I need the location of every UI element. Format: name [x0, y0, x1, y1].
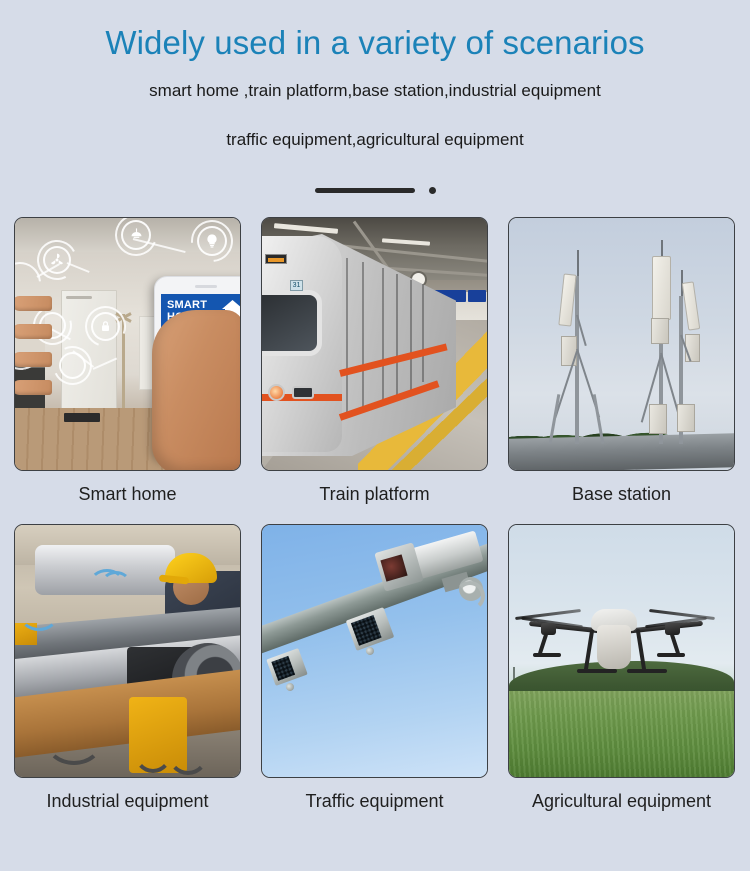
hand: [152, 310, 241, 471]
card-train-platform[interactable]: 31 Train platform: [261, 217, 488, 506]
thumbnail-industrial-equipment[interactable]: [14, 524, 241, 778]
train-platform-scene: 31: [262, 218, 487, 470]
smart-home-scene: SMART HOME: [15, 218, 240, 470]
traffic-equipment-scene: [262, 525, 487, 777]
card-caption: Traffic equipment: [261, 789, 488, 813]
card-base-station[interactable]: Base station: [508, 217, 735, 506]
scenario-card-grid: SMART HOME: [0, 217, 750, 813]
thumbnail-smart-home[interactable]: SMART HOME: [14, 217, 241, 471]
card-caption: Base station: [508, 482, 735, 506]
industrial-equipment-scene: [15, 525, 240, 777]
card-industrial-equipment[interactable]: Industrial equipment: [14, 524, 241, 813]
thumbnail-base-station[interactable]: [508, 217, 735, 471]
card-smart-home[interactable]: SMART HOME: [14, 217, 241, 506]
card-caption: Smart home: [14, 482, 241, 506]
card-caption: Industrial equipment: [14, 789, 241, 813]
carousel-indicators[interactable]: [0, 185, 750, 195]
spray-tank: [597, 625, 631, 669]
carousel-dot-2[interactable]: [429, 187, 436, 194]
card-caption: Agricultural equipment: [508, 789, 735, 813]
card-agricultural-equipment[interactable]: Agricultural equipment: [508, 524, 735, 813]
thumbnail-agricultural-equipment[interactable]: [508, 524, 735, 778]
thumbnail-train-platform[interactable]: 31: [261, 217, 488, 471]
base-station-scene: [509, 218, 734, 470]
agricultural-equipment-scene: [509, 525, 734, 777]
subtitle-line-1: smart home ,train platform,base station,…: [0, 77, 750, 105]
page-title: Widely used in a variety of scenarios: [0, 22, 750, 64]
card-caption: Train platform: [261, 482, 488, 506]
destination-display: [265, 254, 287, 264]
thumbnail-traffic-equipment[interactable]: [261, 524, 488, 778]
carousel-dot-active[interactable]: [315, 188, 415, 193]
subtitle-line-2: traffic equipment,agricultural equipment: [0, 126, 750, 154]
card-traffic-equipment[interactable]: Traffic equipment: [261, 524, 488, 813]
cabin-number: 31: [290, 280, 303, 291]
direction-sign: [468, 290, 486, 302]
page-header: Widely used in a variety of scenarios sm…: [0, 0, 750, 195]
